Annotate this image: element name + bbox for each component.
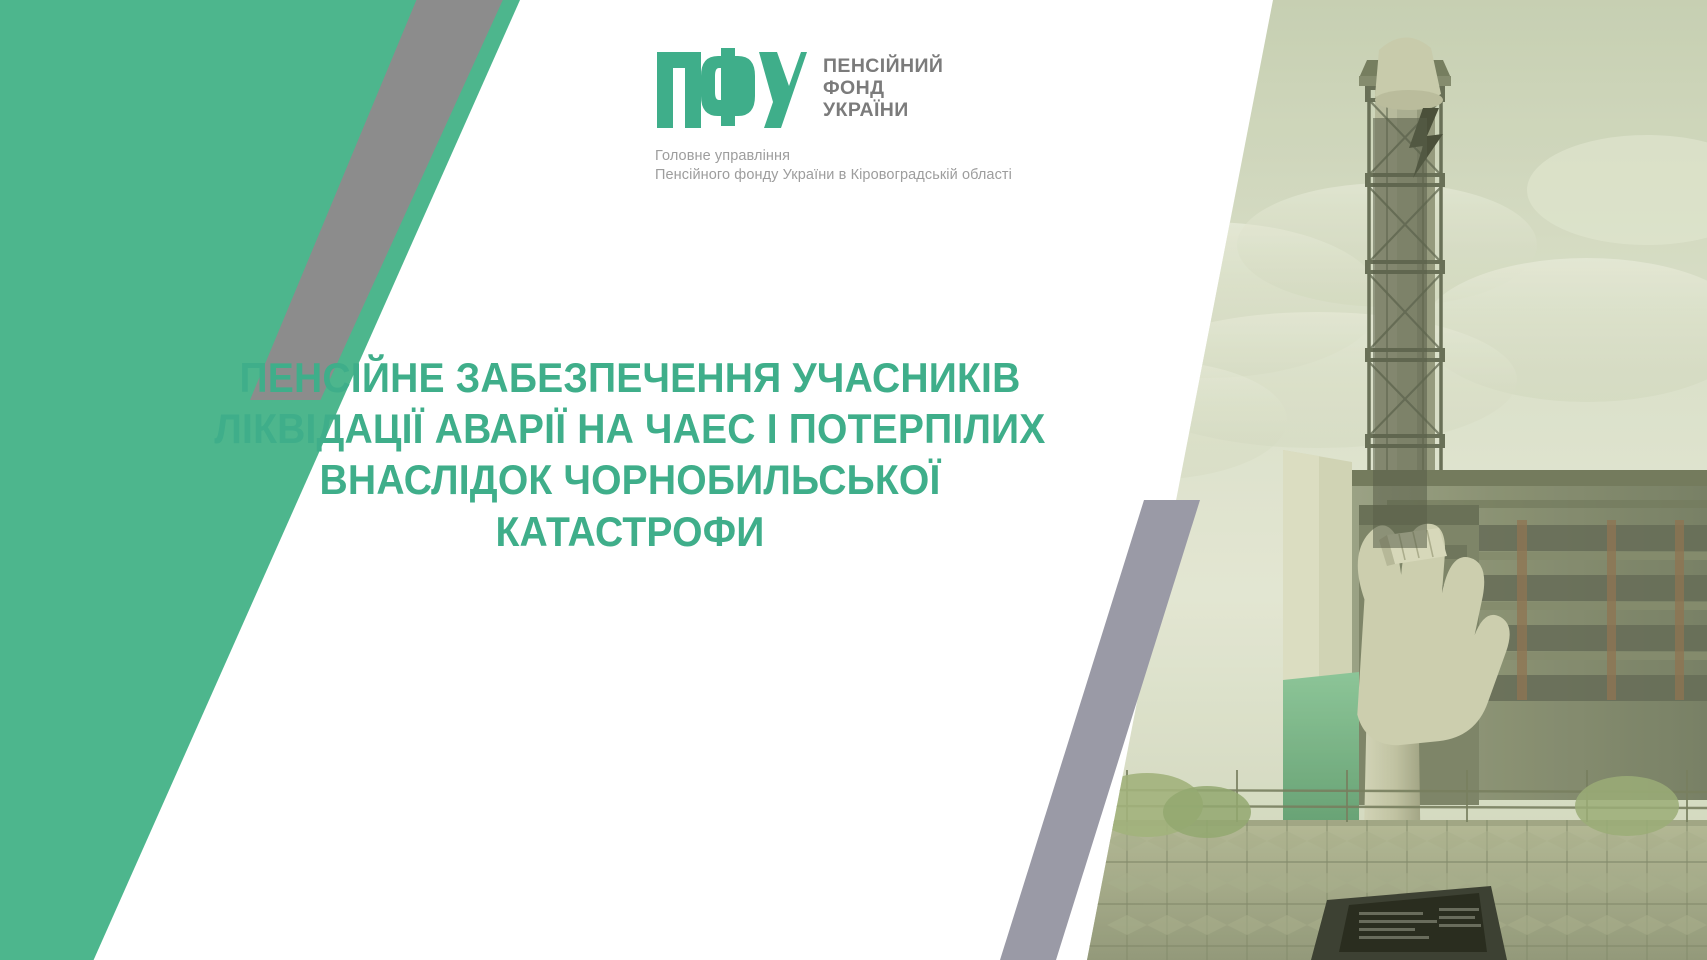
logo-word-1: ПЕНСІЙНИЙ	[823, 56, 943, 77]
title-line-2: ЛІКВІДАЦІЇ АВАРІЇ НА ЧАЕС І ПОТЕРПІЛИХ	[165, 403, 1095, 454]
logo-subtitle-line-1: Головне управління	[655, 147, 1000, 166]
logo-word-3: УКРАЇНИ	[823, 100, 943, 121]
pfu-monogram-icon	[655, 48, 807, 137]
chernobyl-photo-svg	[1087, 0, 1707, 960]
logo-wordmark: ПЕНСІЙНИЙ ФОНД УКРАЇНИ	[823, 48, 943, 121]
presentation-slide: ПЕНСІЙНИЙ ФОНД УКРАЇНИ Головне управлінн…	[0, 0, 1707, 960]
logo-word-2: ФОНД	[823, 78, 943, 99]
title-line-1: ПЕНСІЙНЕ ЗАБЕЗПЕЧЕННЯ УЧАСНИКІВ	[165, 352, 1095, 403]
page-title: ПЕНСІЙНЕ ЗАБЕЗПЕЧЕННЯ УЧАСНИКІВ ЛІКВІДАЦ…	[165, 352, 1095, 557]
title-line-3: ВНАСЛІДОК ЧОРНОБИЛЬСЬКОЇ	[165, 454, 1095, 505]
logo-subtitle-line-2: Пенсійного фонду України в Кіровоградськ…	[655, 166, 1000, 185]
title-line-4: КАТАСТРОФИ	[165, 506, 1095, 557]
logo-subtitle: Головне управління Пенсійного фонду Укра…	[655, 147, 1000, 186]
logo-row: ПЕНСІЙНИЙ ФОНД УКРАЇНИ	[655, 48, 1000, 137]
pfu-logo-block: ПЕНСІЙНИЙ ФОНД УКРАЇНИ Головне управлінн…	[655, 48, 1000, 186]
chernobyl-reactor-and-monument-photo	[1087, 0, 1707, 960]
